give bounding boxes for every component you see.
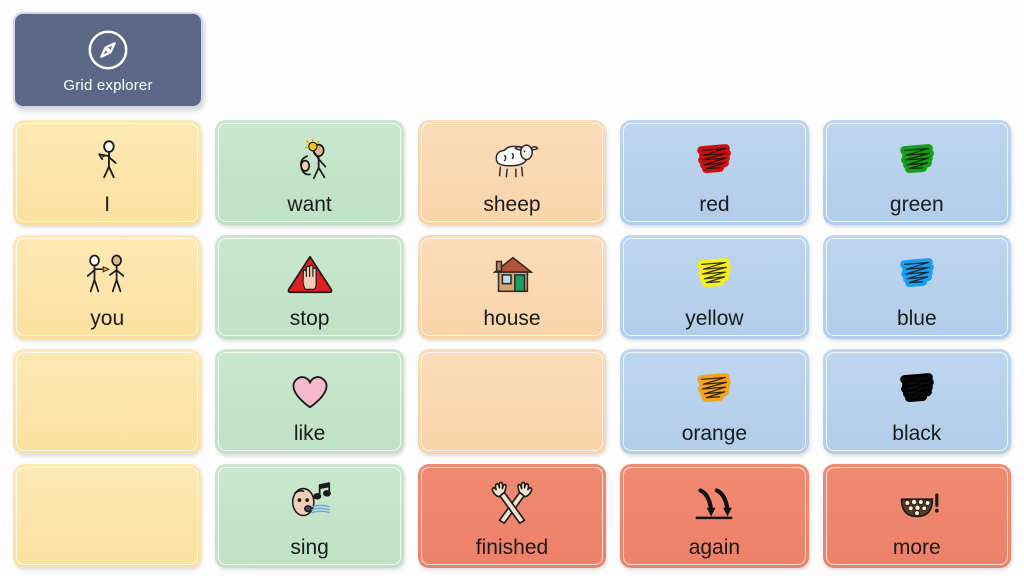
grid-cell-blue[interactable]: blue	[823, 235, 1011, 340]
grid-cell-label: red	[699, 194, 729, 219]
grid-cell-empty[interactable]	[13, 464, 201, 569]
grid-cell-sing[interactable]: sing	[215, 464, 403, 569]
grid-explorer-label: Grid explorer	[63, 77, 152, 94]
grid-cell-again[interactable]: again	[620, 464, 808, 569]
aac-grid-app: Grid explorer Iwantsheepredgreenyoustoph…	[0, 0, 1024, 576]
grid-cell-empty[interactable]	[13, 349, 201, 454]
grid-cell-stop[interactable]: stop	[215, 235, 403, 340]
yellow-scribble-icon	[620, 235, 808, 309]
grid-cell-sheep[interactable]: sheep	[418, 120, 606, 225]
grid-cell-label: stop	[290, 308, 330, 333]
grid-cell-label: again	[689, 537, 740, 562]
house-icon	[418, 235, 606, 309]
grid-cell-label: black	[892, 423, 941, 448]
sheep-icon	[418, 120, 606, 194]
red-scribble-icon	[620, 120, 808, 194]
pink-heart-icon	[215, 349, 403, 423]
grid-cell-label: green	[890, 194, 944, 219]
grid-cell-green[interactable]: green	[823, 120, 1011, 225]
orange-scribble-icon	[620, 349, 808, 423]
grid-cell-label: want	[287, 194, 331, 219]
person-pointing-self-icon	[13, 120, 201, 194]
blue-scribble-icon	[823, 235, 1011, 309]
grid-cell-label: I	[104, 194, 110, 219]
black-scribble-icon	[823, 349, 1011, 423]
grid-cell-label: yellow	[685, 308, 743, 333]
grid-cell-empty[interactable]	[418, 349, 606, 454]
grid-cell-house[interactable]: house	[418, 235, 606, 340]
singing-face-music-notes-icon	[215, 464, 403, 538]
top-bar: Grid explorer	[0, 0, 1024, 118]
green-scribble-icon	[823, 120, 1011, 194]
person-reaching-object-icon	[215, 120, 403, 194]
grid-cell-black[interactable]: black	[823, 349, 1011, 454]
grid-cell-label: you	[90, 308, 124, 333]
grid-cell-red[interactable]: red	[620, 120, 808, 225]
grid-cell-label: blue	[897, 308, 937, 333]
grid-cell-orange[interactable]: orange	[620, 349, 808, 454]
grid-cell-like[interactable]: like	[215, 349, 403, 454]
two-people-pointing-icon	[13, 235, 201, 309]
repeat-arrows-icon	[620, 464, 808, 538]
grid-cell-more[interactable]: more	[823, 464, 1011, 569]
bowl-of-dots-icon	[823, 464, 1011, 538]
grid-cell-yellow[interactable]: yellow	[620, 235, 808, 340]
grid-cell-want[interactable]: want	[215, 120, 403, 225]
grid-cell-label: finished	[476, 537, 548, 562]
grid-cell-label: more	[893, 537, 941, 562]
grid-explorer-button[interactable]: Grid explorer	[13, 12, 203, 108]
compass-icon	[85, 27, 131, 73]
grid-cell-you[interactable]: you	[13, 235, 201, 340]
grid-cell-finished[interactable]: finished	[418, 464, 606, 569]
grid-cell-I[interactable]: I	[13, 120, 201, 225]
grid-cell-label: sheep	[483, 194, 540, 219]
crossed-arms-icon	[418, 464, 606, 538]
grid-cell-label: like	[294, 423, 326, 448]
grid-cell-label: orange	[682, 423, 747, 448]
symbol-grid: Iwantsheepredgreenyoustophouseyellowblue…	[0, 120, 1024, 576]
stop-hand-triangle-icon	[215, 235, 403, 309]
grid-cell-label: sing	[290, 537, 329, 562]
grid-cell-label: house	[483, 308, 540, 333]
